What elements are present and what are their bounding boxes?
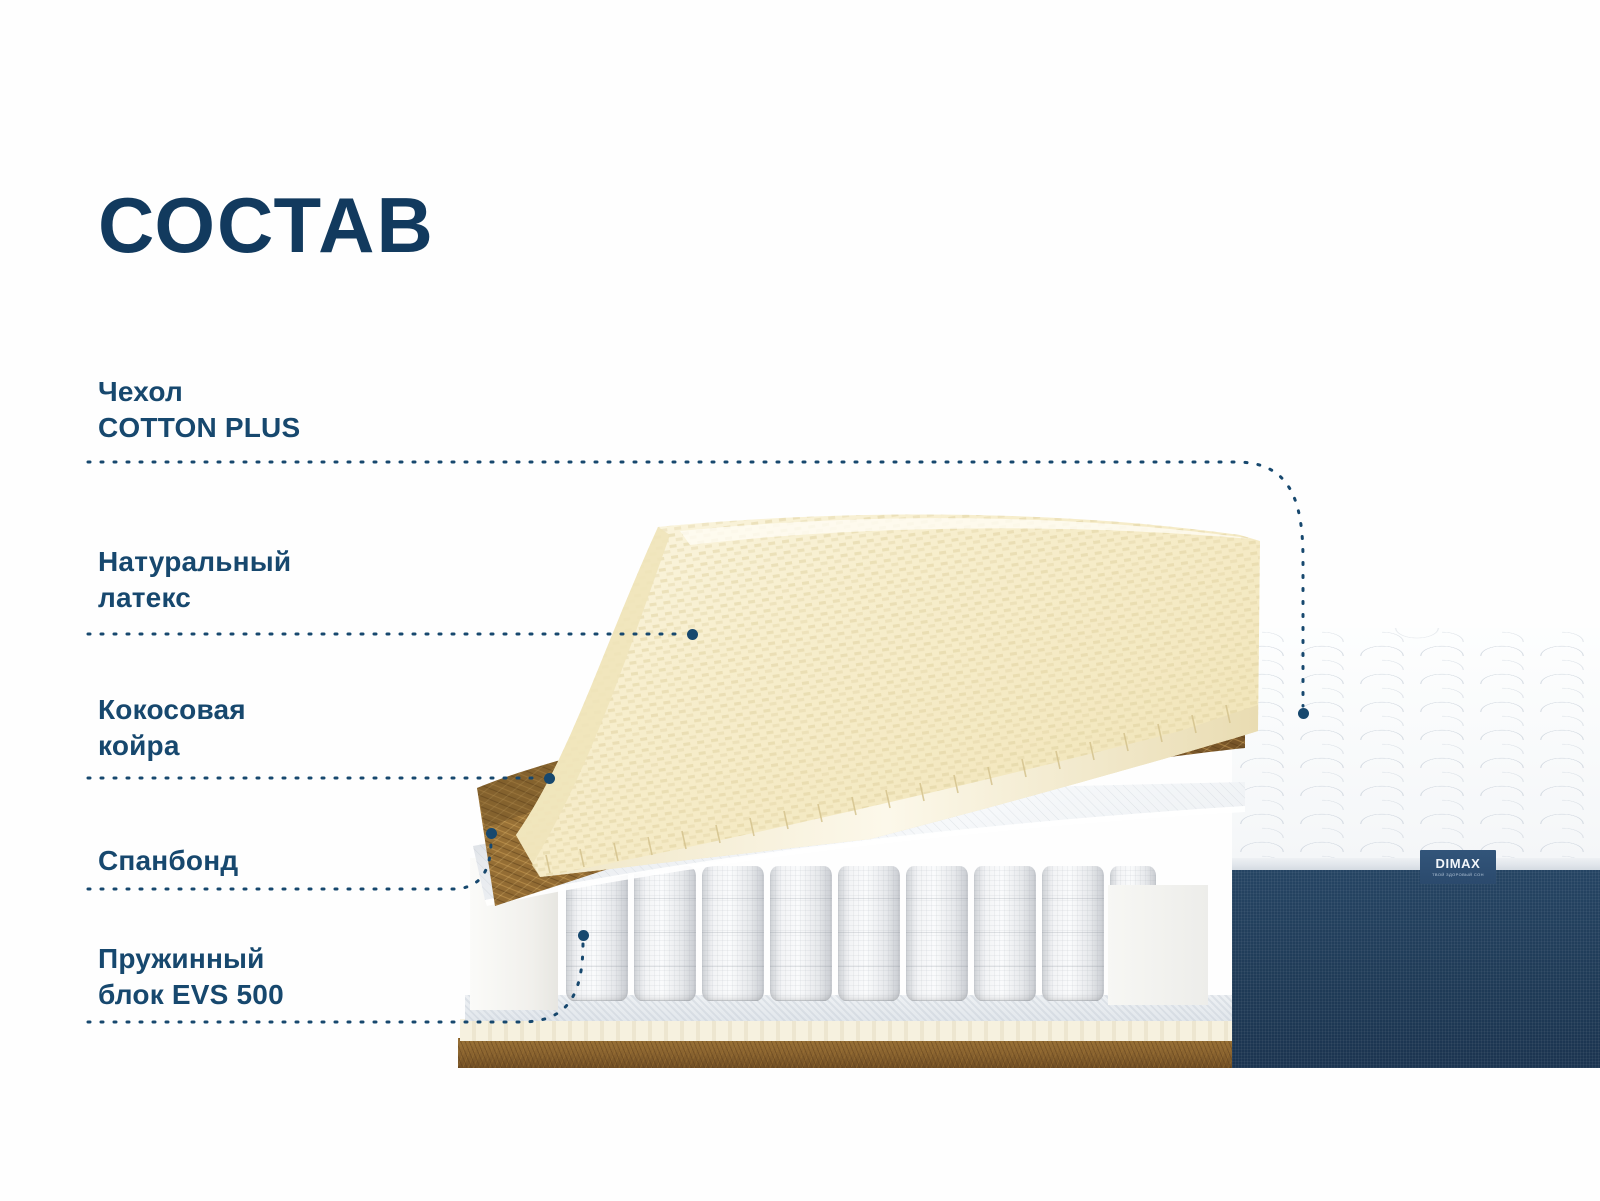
callout-dot-coir (544, 773, 555, 784)
layer-latex-bottom (460, 1019, 1255, 1041)
callout-dot-latex (687, 629, 698, 640)
layer-label-latex: Натуральный латекс (98, 544, 291, 617)
layer-coir-bottom (458, 1038, 1255, 1068)
dimax-brand-badge: DIMAX ТВОЙ ЗДОРОВЫЙ СОН (1420, 850, 1496, 884)
callout-dot-spunbond (486, 828, 497, 839)
layer-label-cover: Чехол COTTON PLUS (98, 374, 300, 447)
callout-dot-cover (1298, 708, 1309, 719)
brand-name: DIMAX (1436, 857, 1481, 870)
cover-quilting-pattern (1232, 628, 1600, 866)
callout-dot-spring (578, 930, 589, 941)
layer-latex-sheet (480, 505, 1260, 885)
layer-label-coir: Кокосовая койра (98, 692, 246, 765)
layer-label-spring: Пружинный блок EVS 500 (98, 941, 284, 1014)
brand-tagline: ТВОЙ ЗДОРОВЫЙ СОН (1432, 873, 1484, 877)
mattress-side-panel (1232, 870, 1600, 1068)
layer-label-spunbond: Спанбонд (98, 843, 238, 879)
illustration-stage: СОСТАВ DIMAX ТВОЙ ЗДОРОВЫЙ СОН (0, 0, 1600, 1201)
